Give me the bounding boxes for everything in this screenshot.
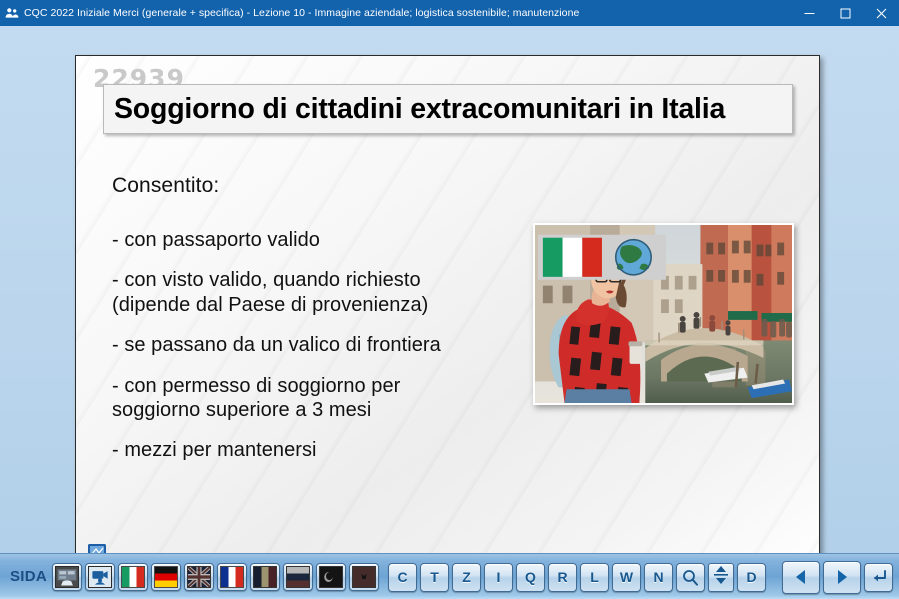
title-bar: CQC 2022 Iniziale Merci (generale + spec… [0,0,899,26]
button-l[interactable]: L [580,563,609,592]
brand-label: SIDA [4,568,52,585]
lang-russian[interactable] [283,563,313,591]
presentation-slide[interactable]: 22939 Soggiorno di cittadini extracomuni… [75,55,820,553]
lang-german[interactable] [151,563,181,591]
button-z-label: Z [462,569,471,585]
button-l-label: L [590,569,599,585]
lang-albanian[interactable] [349,563,379,591]
users-icon [0,0,24,26]
button-q[interactable]: Q [516,563,545,592]
slide-stage: 22939 Soggiorno di cittadini extracomuni… [0,26,899,553]
list-item: - con passaporto valido [112,228,542,252]
list-item: - con visto valido, quando richiesto (di… [112,268,542,317]
toolbar-right-group: C T Z I Q R L W N [388,554,893,599]
button-z[interactable]: Z [452,563,481,592]
list-item: - con permesso di soggiorno per soggiorn… [112,374,542,423]
france-flag-icon [220,566,244,588]
left-triangle-icon [791,567,811,587]
lang-english[interactable] [184,563,214,591]
lead-text: Consentito: [112,174,542,198]
button-d[interactable]: D [737,563,766,592]
minimize-button[interactable] [791,0,827,26]
page-stepper[interactable] [708,563,734,592]
button-i-label: I [497,569,501,585]
lang-french[interactable] [217,563,247,591]
magnifier-icon [682,569,699,586]
lang-arabic[interactable] [316,563,346,591]
button-r-label: R [557,569,567,585]
maximize-button[interactable] [827,0,863,26]
button-n[interactable]: N [644,563,673,592]
arabic-flag-icon [319,566,343,588]
slides-thumbnail-button[interactable] [52,563,82,591]
sida-slide-logo [87,543,109,553]
previous-slide-button[interactable] [782,561,820,594]
up-down-arrows-icon [712,564,730,591]
search-button[interactable] [676,563,705,592]
russia-flag-icon [286,566,310,588]
button-t[interactable]: T [420,563,449,592]
romania-flag-icon [253,566,277,588]
list-item: - se passano da un valico di frontiera [112,333,542,357]
italy-flag-icon [121,566,145,588]
window-title: CQC 2022 Iniziale Merci (generale + spec… [24,7,791,19]
tourist-venice-photo [533,223,794,405]
button-w-label: W [620,569,633,585]
lang-romanian[interactable] [250,563,280,591]
window-controls [791,0,899,26]
lang-italian[interactable] [118,563,148,591]
uk-flag-icon [187,566,211,588]
button-t-label: T [430,569,439,585]
bottom-toolbar: SIDA [0,553,899,599]
application-window: CQC 2022 Iniziale Merci (generale + spec… [0,0,899,599]
slide-body: Consentito: - con passaporto valido - co… [112,174,542,479]
close-button[interactable] [863,0,899,26]
page-title: Soggiorno di cittadini extracomunitari i… [114,93,725,126]
slide-title-box: Soggiorno di cittadini extracomunitari i… [103,84,793,134]
button-c-label: C [397,569,407,585]
video-camera-icon [88,566,112,588]
button-q-label: Q [525,569,536,585]
video-button[interactable] [85,563,115,591]
button-i[interactable]: I [484,563,513,592]
button-c[interactable]: C [388,563,417,592]
next-slide-button[interactable] [823,561,861,594]
enter-return-icon [870,568,888,586]
button-r[interactable]: R [548,563,577,592]
bullet-list: - con passaporto valido - con visto vali… [112,228,542,463]
right-triangle-icon [832,567,852,587]
enter-button[interactable] [864,563,893,592]
slides-icon [55,566,79,588]
germany-flag-icon [154,566,178,588]
button-n-label: N [653,569,663,585]
albania-flag-icon [352,566,376,588]
button-d-label: D [746,569,756,585]
button-w[interactable]: W [612,563,641,592]
list-item: - mezzi per mantenersi [112,438,542,462]
toolbar-left-group [52,563,379,591]
